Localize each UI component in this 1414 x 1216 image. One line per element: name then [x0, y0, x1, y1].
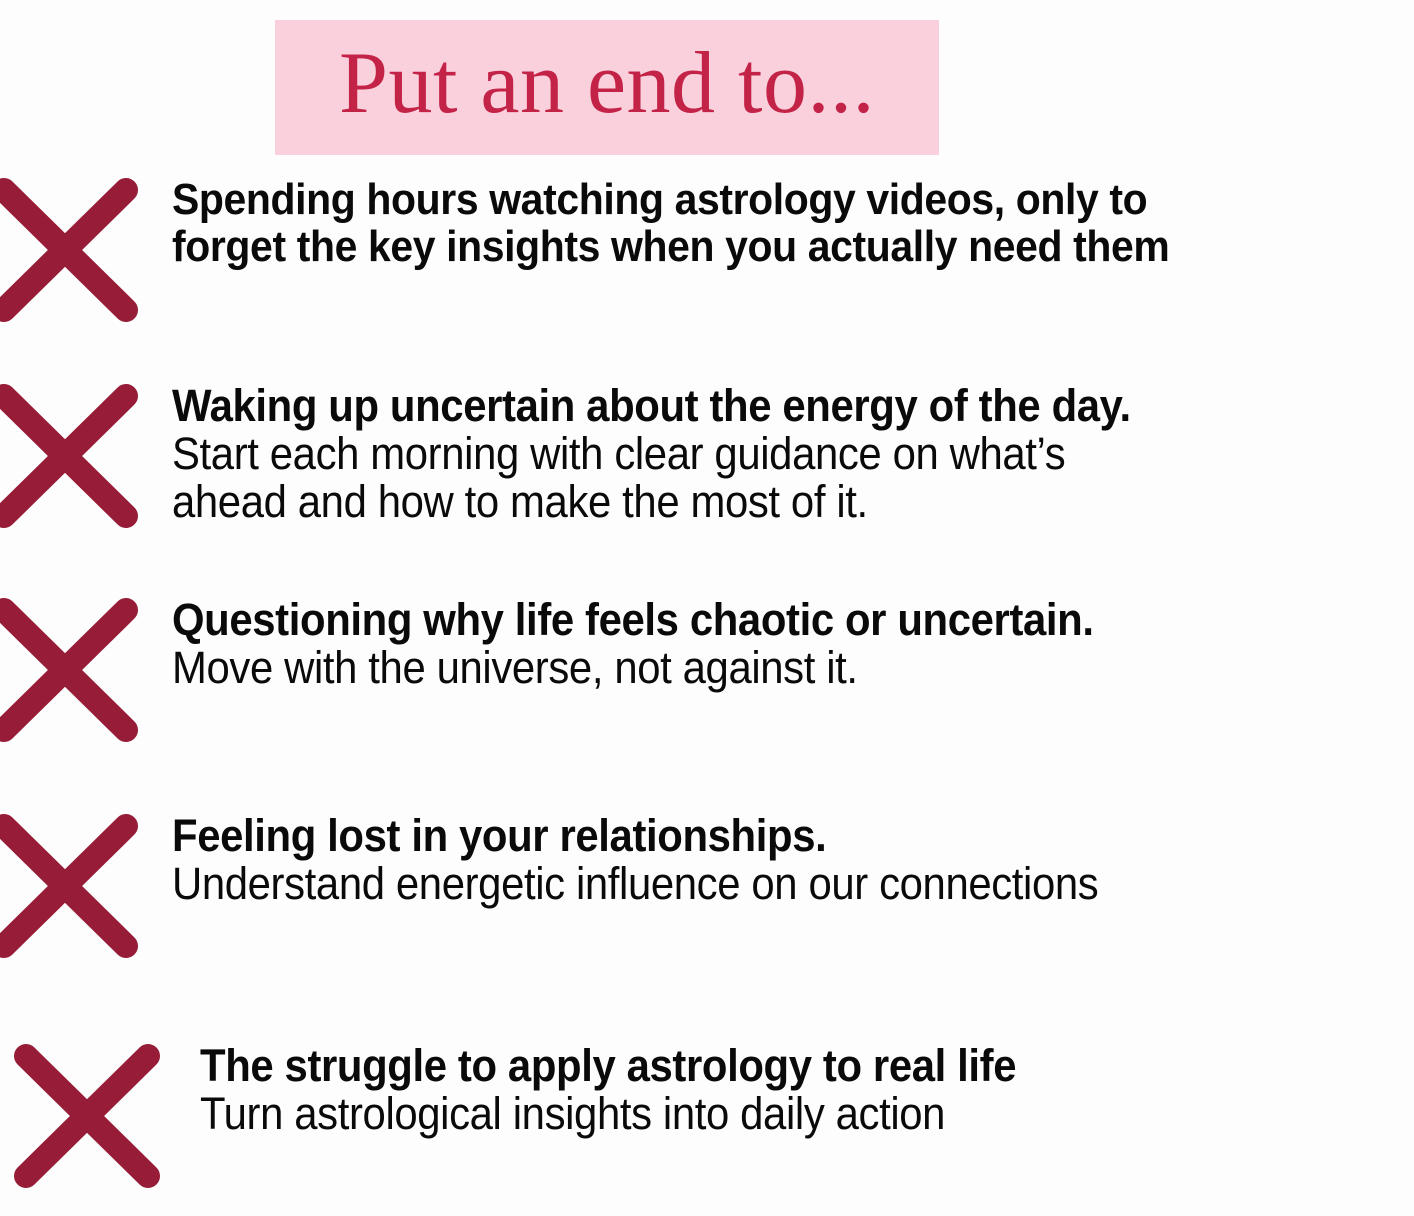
x-mark-icon	[0, 176, 142, 324]
x-mark-icon	[14, 1042, 164, 1190]
list-item-text: The struggle to apply astrology to real …	[200, 1042, 1078, 1138]
list-item-subline: Move with the universe, not against it.	[172, 644, 1094, 692]
page-title-highlight: Put an end to...	[275, 20, 939, 155]
x-mark-icon	[0, 596, 142, 744]
list-item-headline: The struggle to apply astrology to real …	[200, 1042, 1016, 1090]
list-item-headline: Waking up uncertain about the energy of …	[172, 382, 1131, 430]
list-item-subline: Start each morning with clear guidance o…	[172, 430, 1131, 526]
list-item-text: Feeling lost in your relationships. Unde…	[172, 812, 1168, 908]
list-item: The struggle to apply astrology to real …	[22, 1042, 1078, 1190]
x-mark-icon	[0, 382, 142, 530]
list-item-headline: Feeling lost in your relationships.	[172, 812, 1098, 860]
list-item-text: Questioning why life feels chaotic or un…	[172, 596, 1163, 692]
list-item-headline: Spending hours watching astrology videos…	[172, 176, 1169, 270]
list-item-subline: Turn astrological insights into daily ac…	[200, 1090, 1016, 1138]
list-item-subline: Understand energetic influence on our co…	[172, 860, 1098, 908]
list-item: Feeling lost in your relationships. Unde…	[0, 812, 1168, 960]
page-title: Put an end to...	[339, 40, 875, 128]
list-item-headline: Questioning why life feels chaotic or un…	[172, 596, 1094, 644]
list-item: Waking up uncertain about the energy of …	[0, 382, 1203, 530]
list-item-text: Waking up uncertain about the energy of …	[172, 382, 1203, 526]
list-item-text: Spending hours watching astrology videos…	[172, 176, 1245, 270]
x-mark-icon	[0, 812, 142, 960]
list-item: Spending hours watching astrology videos…	[0, 176, 1245, 324]
list-item: Questioning why life feels chaotic or un…	[0, 596, 1163, 744]
